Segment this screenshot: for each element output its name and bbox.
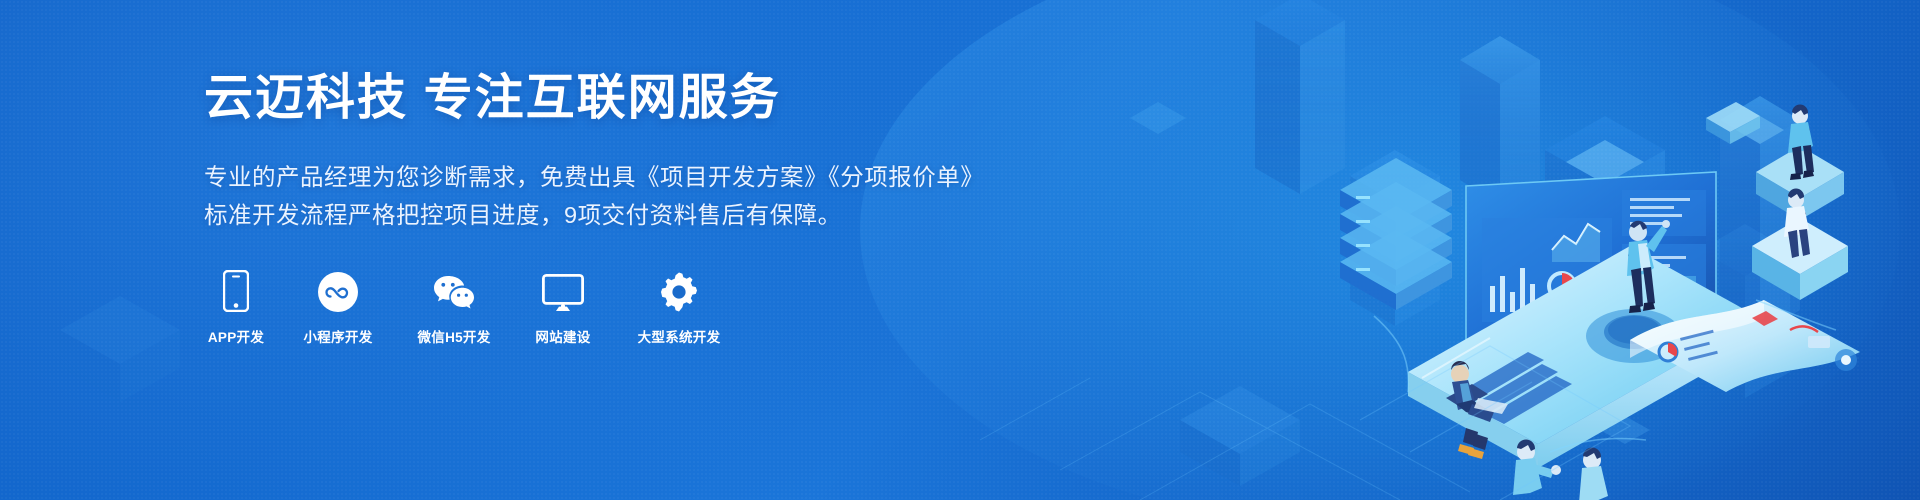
service-label: 微信H5开发 <box>417 326 490 346</box>
service-item-app[interactable]: APP开发 <box>204 270 268 346</box>
service-item-website[interactable]: 网站建设 <box>524 270 602 346</box>
page-title: 云迈科技 专注互联网服务 <box>204 72 904 126</box>
mini-program-icon <box>318 270 358 312</box>
service-label: APP开发 <box>208 326 264 346</box>
service-item-large-system[interactable]: 大型系统开发 <box>626 270 732 346</box>
banner-subtitle: 专业的产品经理为您诊断需求，免费出具《项目开发方案》《分项报价单》 标准开发流程… <box>204 158 904 234</box>
service-list: APP开发 小程序开发 <box>204 270 904 346</box>
service-label: 大型系统开发 <box>638 326 721 346</box>
service-label: 小程序开发 <box>304 326 373 346</box>
monitor-icon <box>542 270 584 312</box>
service-label: 网站建设 <box>535 326 590 346</box>
hero-banner: 云迈科技 专注互联网服务 专业的产品经理为您诊断需求，免费出具《项目开发方案》《… <box>0 0 1920 500</box>
subtitle-line-1: 专业的产品经理为您诊断需求，免费出具《项目开发方案》《分项报价单》 <box>204 158 904 196</box>
hero-illustration <box>1160 0 1920 500</box>
wechat-icon <box>432 270 476 312</box>
subtitle-line-2: 标准开发流程严格把控项目进度，9项交付资料售后有保障。 <box>204 196 904 234</box>
mobile-phone-icon <box>223 270 249 312</box>
banner-content: 云迈科技 专注互联网服务 专业的产品经理为您诊断需求，免费出具《项目开发方案》《… <box>204 0 904 500</box>
service-item-mini-program[interactable]: 小程序开发 <box>292 270 384 346</box>
service-item-wechat[interactable]: 微信H5开发 <box>408 270 500 346</box>
gear-icon <box>659 270 699 312</box>
